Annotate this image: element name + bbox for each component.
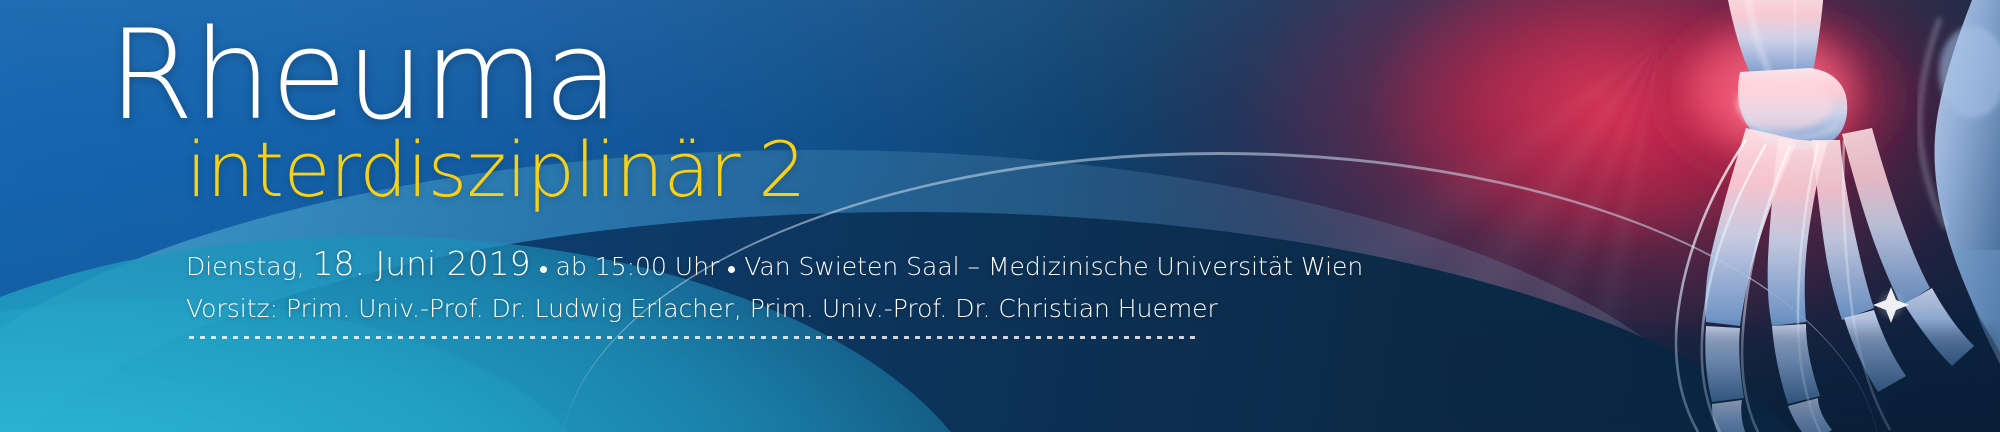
event-venue: Van Swieten Saal – Medizinische Universi… [744,252,1363,281]
event-date-line: Dienstag, 18. Juni 2019 ab 15:00 Uhr Van… [186,244,1288,283]
event-details: Dienstag, 18. Juni 2019 ab 15:00 Uhr Van… [186,244,1288,323]
banner-subtitle-row: interdisziplinär 2 [186,132,1288,208]
event-banner: Rheuma interdisziplinär 2 Dienstag, 18. … [0,0,2000,432]
event-chairs: Vorsitz: Prim. Univ.-Prof. Dr. Ludwig Er… [186,294,1218,323]
page-title: Rheuma [108,16,1288,138]
banner-edition-number: 2 [758,132,806,208]
banner-text-block: Rheuma interdisziplinär 2 Dienstag, 18. … [108,16,1288,339]
banner-subtitle: interdisziplinär [186,132,740,208]
bullet-separator-icon [540,266,547,273]
dotted-separator-rule [186,336,1198,339]
event-chairs-line: Vorsitz: Prim. Univ.-Prof. Dr. Ludwig Er… [186,294,1288,323]
bullet-separator-icon [728,266,735,273]
event-date: 18. Juni 2019 [312,244,530,283]
medical-xray-artwork [1440,0,2000,432]
event-weekday: Dienstag, [186,252,305,281]
event-time: ab 15:00 Uhr [556,252,720,281]
